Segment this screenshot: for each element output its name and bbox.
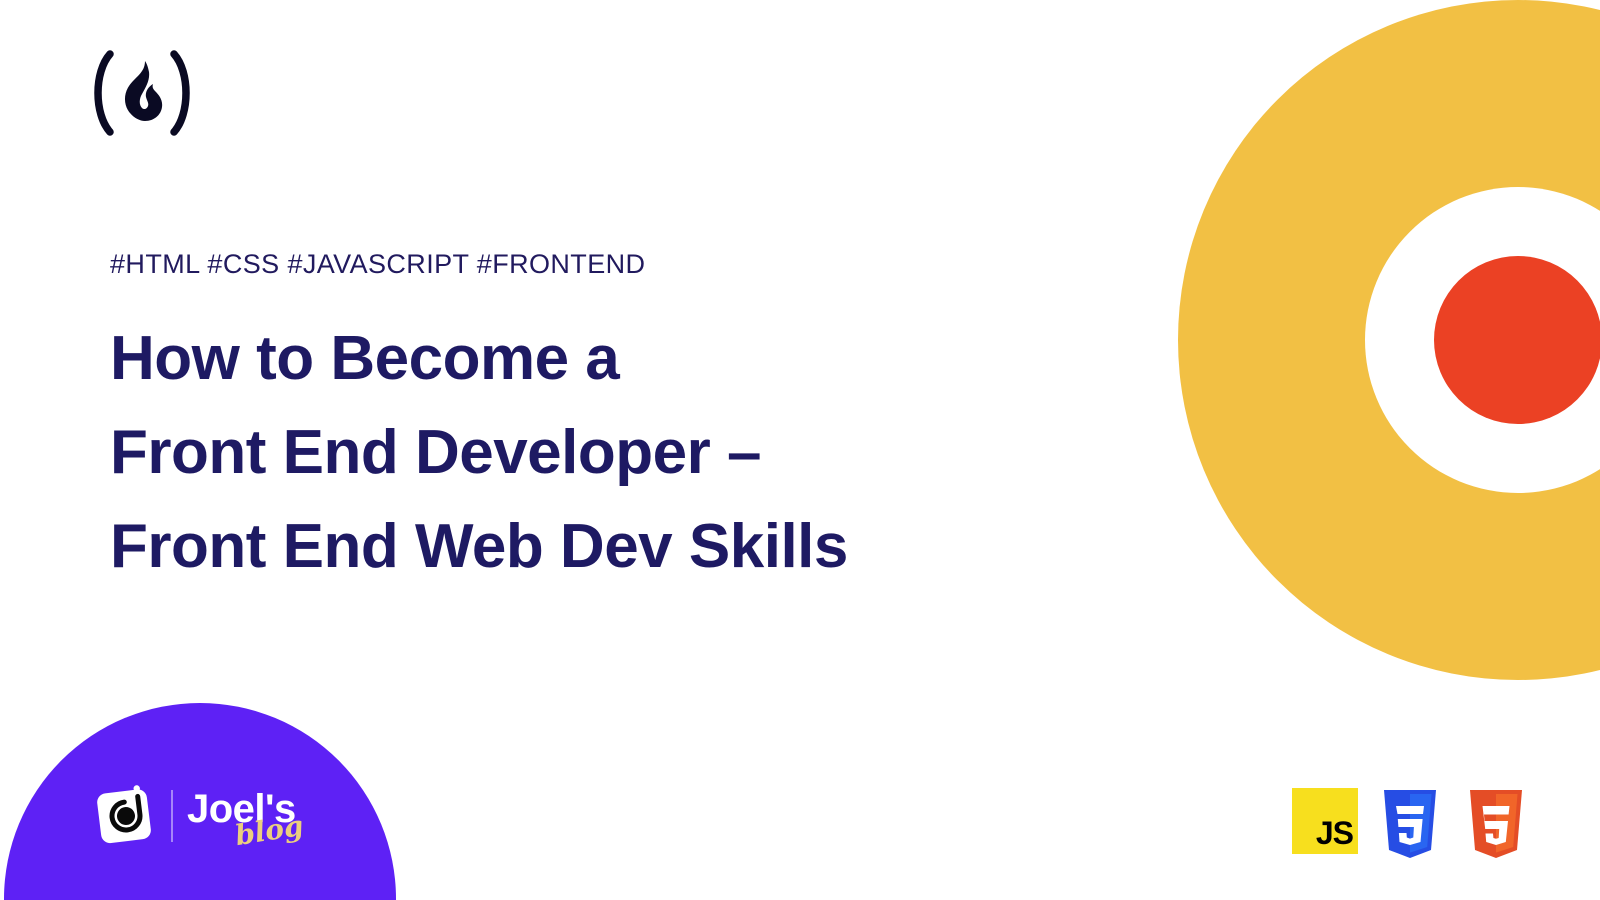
freecodecamp-flame-logo (88, 48, 196, 138)
title-line-1: How to Become a (110, 312, 1010, 406)
html5-icon (1464, 788, 1532, 860)
javascript-icon-label: JS (1316, 817, 1358, 854)
javascript-icon-box: JS (1292, 788, 1358, 854)
article-cover-card: #HTML #CSS #JAVASCRIPT #FRONTEND How to … (0, 0, 1600, 900)
javascript-icon: JS (1292, 788, 1360, 860)
css3-icon (1378, 788, 1446, 860)
joel-j-mark-icon (95, 785, 157, 847)
article-tags: #HTML #CSS #JAVASCRIPT #FRONTEND (110, 249, 645, 280)
author-wordmark: Joel's blog (187, 783, 327, 849)
author-blog-script: blog (233, 812, 305, 850)
badge-divider (171, 790, 173, 842)
page-title: How to Become a Front End Developer – Fr… (110, 312, 1010, 594)
title-line-2: Front End Developer – (110, 406, 1010, 500)
tech-icon-row: JS (1292, 788, 1532, 860)
title-line-3: Front End Web Dev Skills (110, 500, 1010, 594)
author-badge[interactable]: Joel's blog (95, 783, 327, 849)
